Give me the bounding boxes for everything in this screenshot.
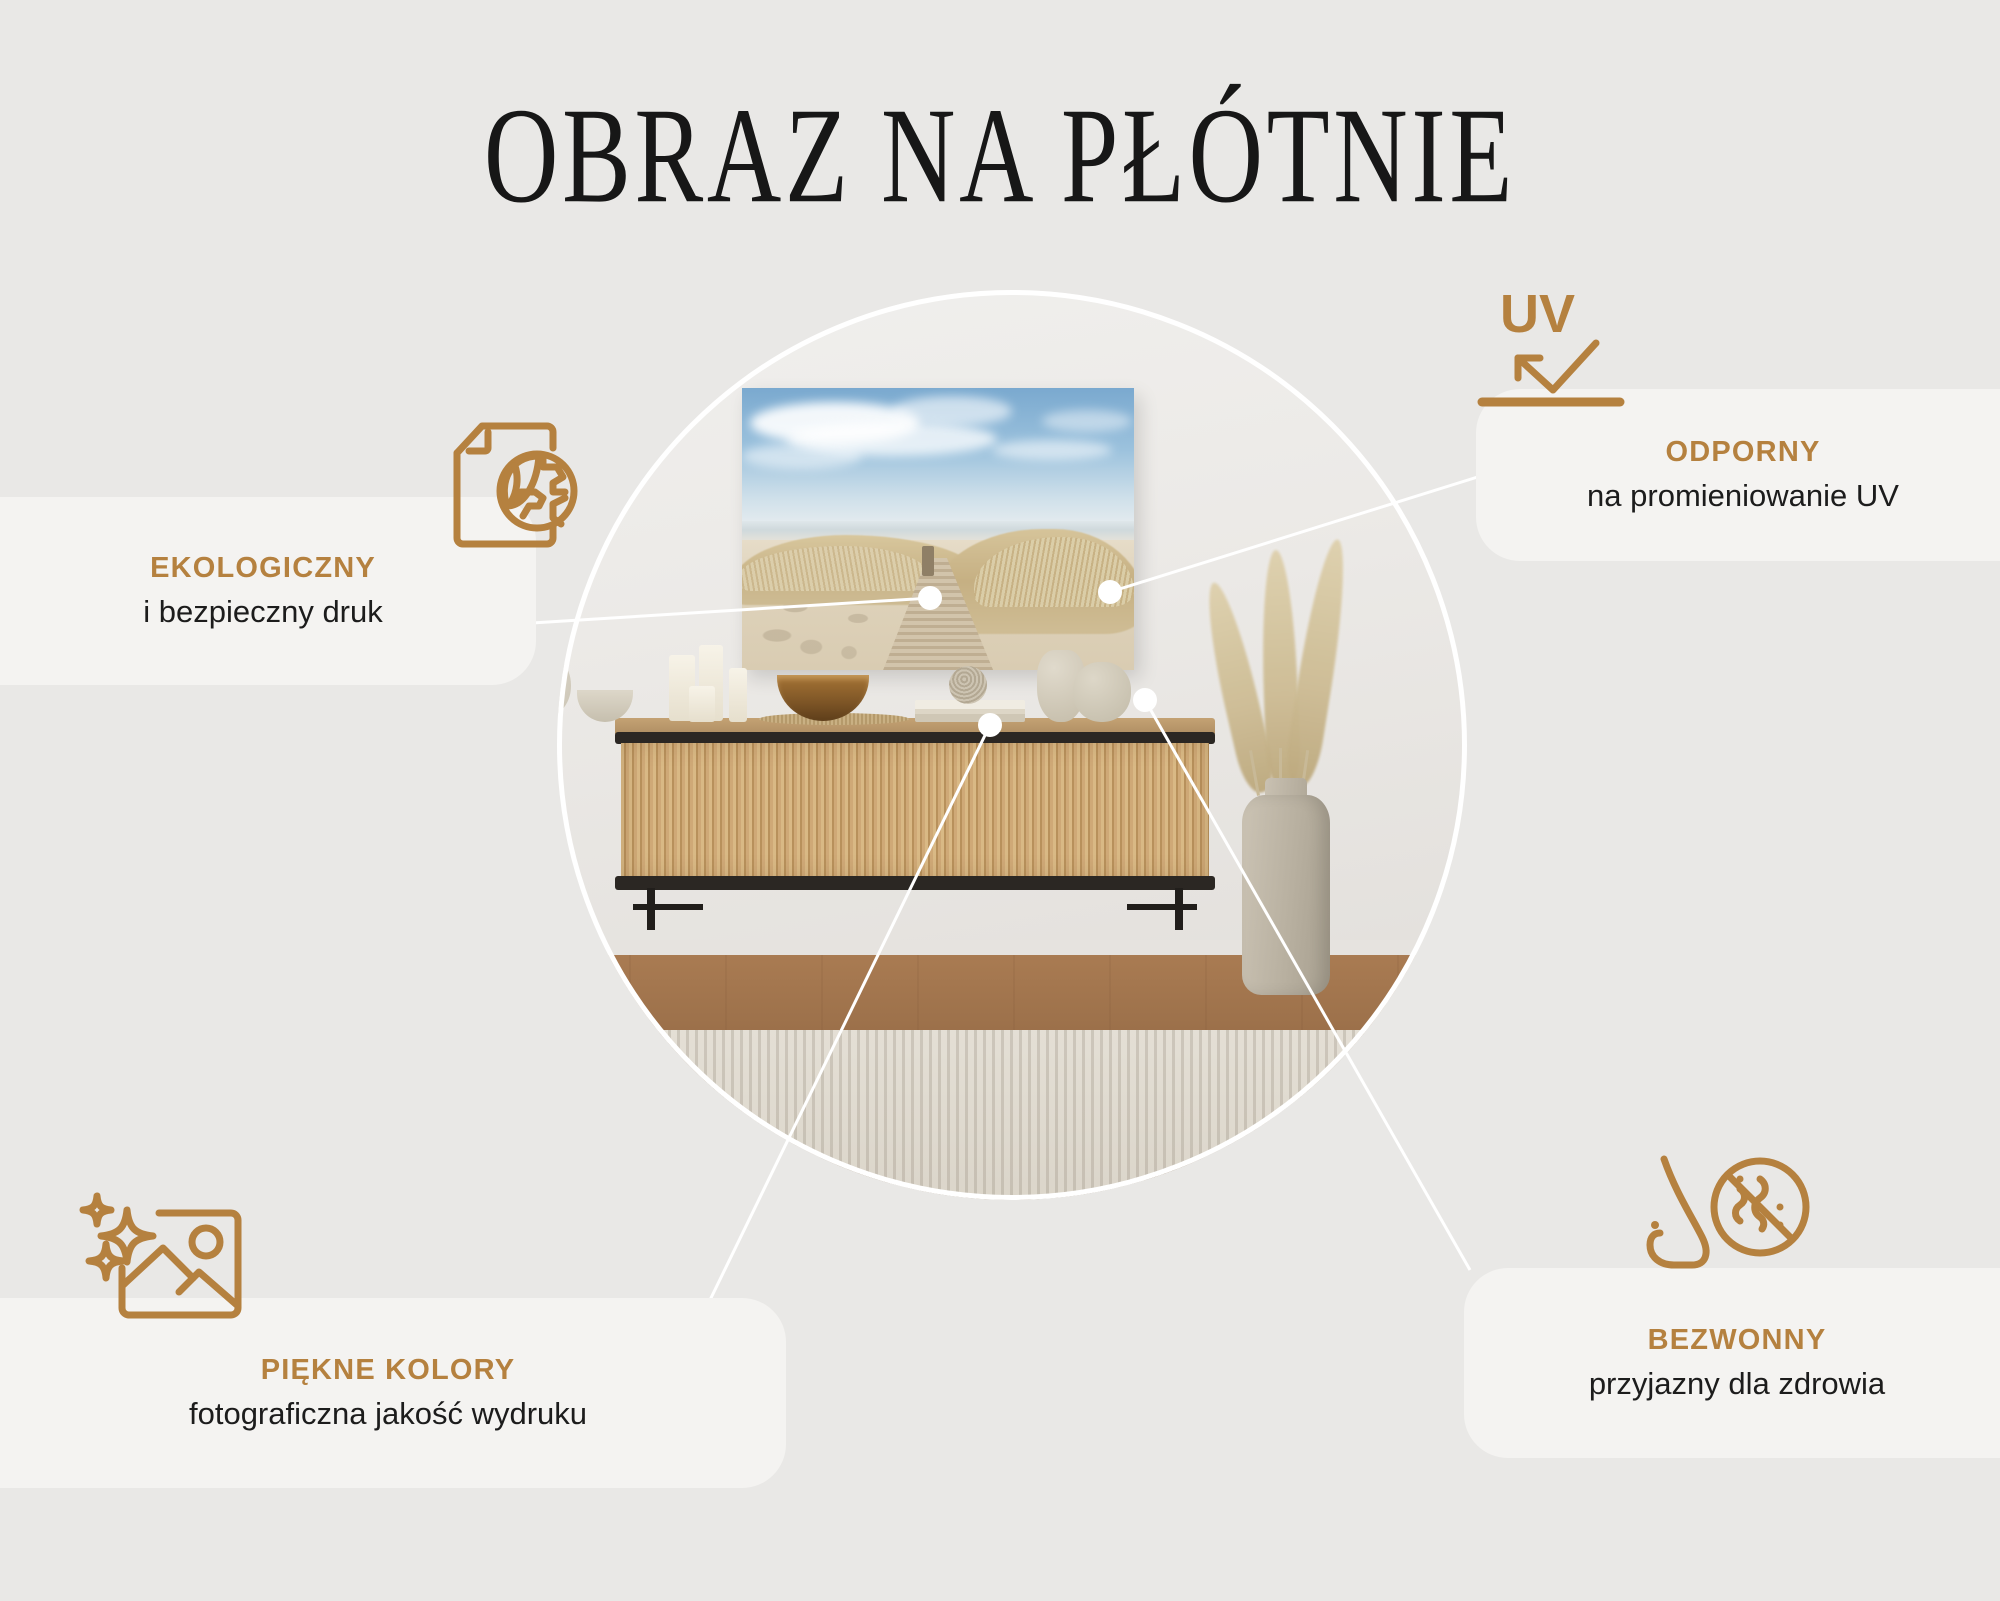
feature-title-odporny-uv: ODPORNY <box>1494 437 1992 469</box>
cloud <box>742 443 862 469</box>
nose-no-odour-icon <box>1640 1145 1820 1310</box>
sparkle-photo-icon <box>75 1180 255 1345</box>
feature-title-bezwonny: BEZWONNY <box>1482 1325 1992 1357</box>
feature-subtitle-bezwonny: przyjazny dla zdrowia <box>1482 1366 1992 1402</box>
sideboard-base <box>615 876 1215 890</box>
feature-title-piekne-kolory: PIĘKNE KOLORY <box>8 1355 768 1387</box>
feature-subtitle-ekologiczny: i bezpieczny druk <box>8 594 518 630</box>
sideboard-fluted-front <box>621 743 1209 878</box>
feature-subtitle-odporny-uv: na promieniowanie UV <box>1494 478 1992 514</box>
floor-vase <box>1242 795 1330 995</box>
cloud <box>992 440 1112 460</box>
sideboard-leg-bar <box>633 904 703 910</box>
artwork-post <box>922 546 934 576</box>
scene-circle-mask <box>557 290 1467 1200</box>
uv-reflect-icon: UV <box>1470 280 1670 430</box>
uv-icon-label: UV <box>1500 284 1575 344</box>
cloud <box>1042 410 1132 432</box>
canvas-artwork <box>742 388 1134 670</box>
candle <box>729 668 747 722</box>
product-scene <box>557 290 1467 1200</box>
stone-sphere <box>949 666 987 704</box>
page-title: OBRAZ NA PŁÓTNIE <box>80 78 1920 235</box>
ceramic-vase <box>1073 662 1131 722</box>
candle <box>689 686 715 722</box>
feature-subtitle-piekne-kolory: fotograficzna jakość wydruku <box>8 1396 768 1432</box>
sideboard <box>615 718 1215 908</box>
document-leaf-globe-icon <box>427 398 597 568</box>
cloud <box>892 396 1012 426</box>
area-rug <box>557 1030 1467 1200</box>
room-render <box>557 290 1467 1200</box>
sideboard-leg-bar <box>1127 904 1197 910</box>
